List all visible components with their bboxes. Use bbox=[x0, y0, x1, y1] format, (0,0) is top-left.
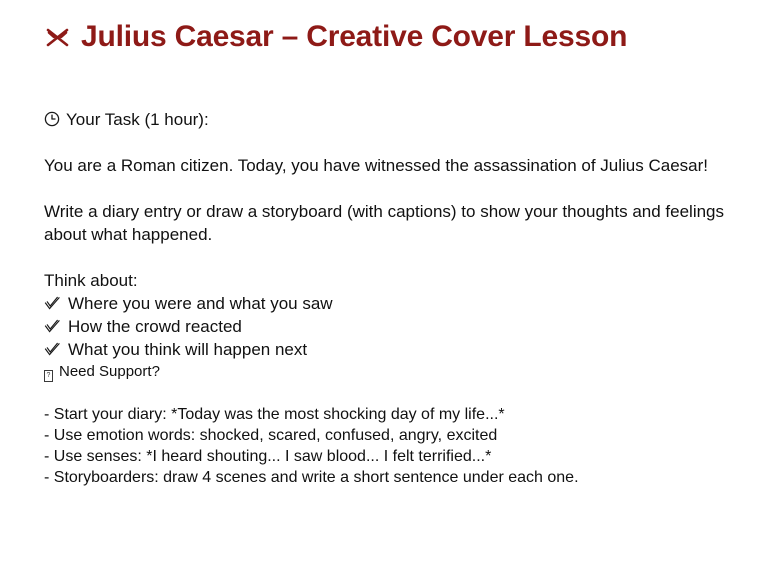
support-line: ? Need Support? bbox=[44, 361, 744, 382]
list-item-label: What you think will happen next bbox=[68, 338, 307, 361]
list-item: - Use senses: *I heard shouting... I saw… bbox=[44, 446, 744, 467]
crossed-swords-icon bbox=[44, 22, 72, 52]
missing-glyph-box-icon: ? bbox=[44, 370, 53, 382]
list-item-label: Where you were and what you saw bbox=[68, 292, 333, 315]
check-mark-icon bbox=[44, 296, 61, 311]
hint-list: - Start your diary: *Today was the most … bbox=[44, 404, 744, 488]
slide-body: Your Task (1 hour): You are a Roman citi… bbox=[44, 108, 744, 488]
paragraph-intro: You are a Roman citizen. Today, you have… bbox=[44, 154, 734, 177]
list-item-label: How the crowd reacted bbox=[68, 315, 242, 338]
page-title-text: Julius Caesar – Creative Cover Lesson bbox=[81, 20, 627, 54]
list-item: - Storyboarders: draw 4 scenes and write… bbox=[44, 467, 744, 488]
list-item: - Use emotion words: shocked, scared, co… bbox=[44, 425, 744, 446]
spacer bbox=[44, 131, 744, 154]
check-mark-icon bbox=[44, 319, 61, 334]
spacer bbox=[44, 177, 744, 200]
page-title: Julius Caesar – Creative Cover Lesson bbox=[44, 20, 734, 54]
task-heading-text: Your Task (1 hour): bbox=[66, 108, 209, 131]
list-item: What you think will happen next bbox=[44, 338, 744, 361]
task-heading: Your Task (1 hour): bbox=[44, 108, 744, 131]
spacer bbox=[44, 246, 744, 269]
think-about-label: Think about: bbox=[44, 269, 734, 292]
paragraph-instruction: Write a diary entry or draw a storyboard… bbox=[44, 200, 734, 246]
clock-icon bbox=[44, 111, 60, 127]
list-item: Where you were and what you saw bbox=[44, 292, 744, 315]
list-item: How the crowd reacted bbox=[44, 315, 744, 338]
list-item: - Start your diary: *Today was the most … bbox=[44, 404, 744, 425]
check-mark-icon bbox=[44, 342, 61, 357]
support-line-label: Need Support? bbox=[59, 361, 160, 382]
slide: Julius Caesar – Creative Cover Lesson Yo… bbox=[0, 0, 768, 576]
